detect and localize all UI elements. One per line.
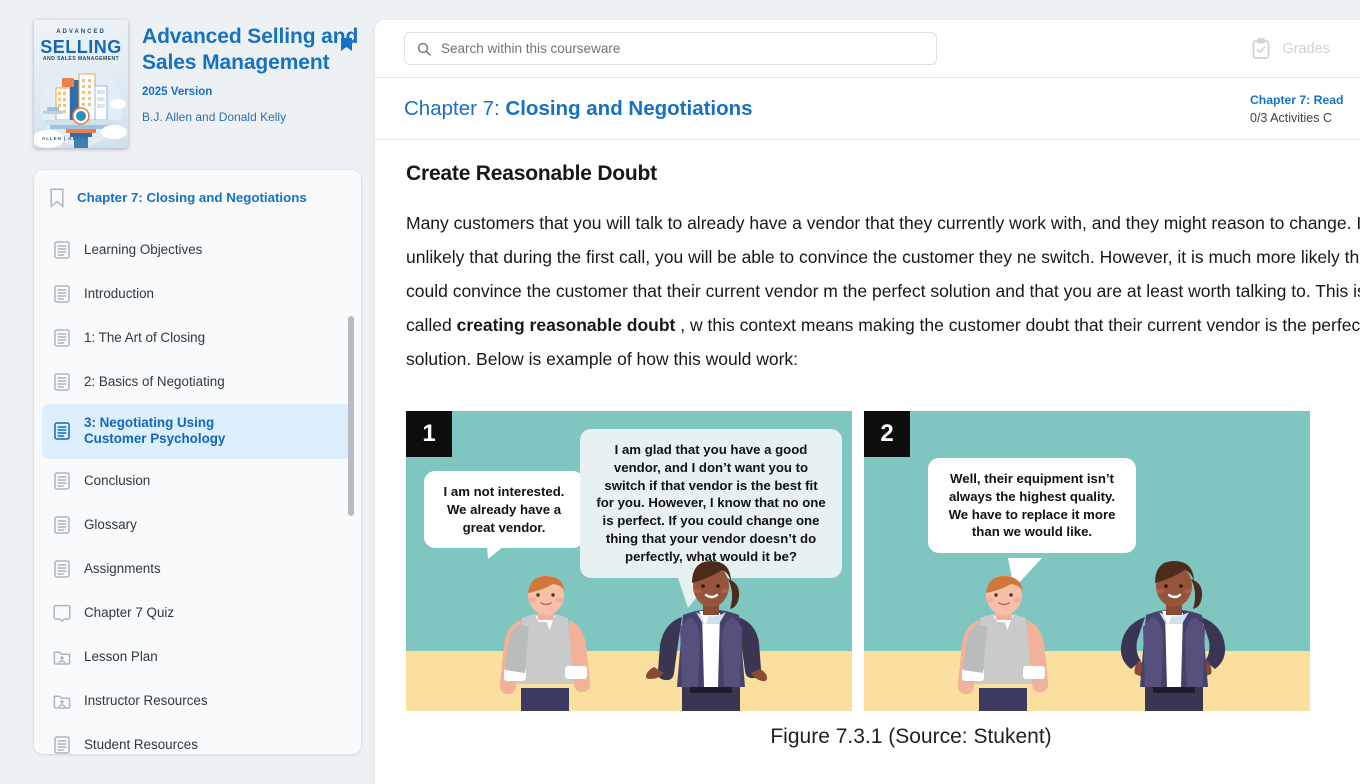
sidebar-item-label: Introduction [84, 286, 154, 302]
document-lines-icon [52, 559, 72, 579]
sidebar-item-label: Lesson Plan [84, 649, 158, 665]
character-salesperson-woman [1109, 561, 1239, 711]
sidebar-item-learning-objectives[interactable]: Learning Objectives [42, 228, 353, 272]
app-root: ADVANCED SELLING AND SALES MANAGEMENT [0, 0, 1360, 784]
document-lines-icon [52, 515, 72, 535]
cover-title-sub: AND SALES MANAGEMENT [34, 56, 128, 62]
document-lines-icon [52, 328, 72, 348]
sidebar: ADVANCED SELLING AND SALES MANAGEMENT [0, 0, 375, 784]
search-placeholder: Search within this courseware [441, 41, 620, 56]
sidebar-scrollbar-thumb[interactable] [348, 316, 354, 516]
book-title: Advanced Selling and Sales Management [142, 24, 361, 75]
grades-label: Grades [1282, 41, 1330, 57]
sidebar-item-label: Student Resources [84, 737, 198, 753]
book-header: ADVANCED SELLING AND SALES MANAGEMENT [0, 0, 375, 148]
sidebar-item-label: Instructor Resources [84, 693, 208, 709]
character-salesperson-woman [646, 561, 776, 711]
figure-panel-1: 1 I am not interested. We already have a… [406, 411, 852, 711]
clipboard-check-icon [1251, 38, 1271, 60]
sidebar-item-instructor-resources[interactable]: Instructor Resources [42, 679, 353, 723]
figure-caption: Figure 7.3.1 (Source: Stukent) [406, 725, 1360, 749]
sidebar-item-student-resources[interactable]: Student Resources [42, 723, 353, 754]
search-input[interactable]: Search within this courseware [404, 32, 937, 65]
sidebar-item-label: Glossary [84, 517, 137, 533]
cover-title-top: ADVANCED [34, 29, 128, 35]
figure-panel-2: 2 Well, their equipment isn’t always the… [864, 411, 1310, 711]
sidebar-item-chapter-7-quiz[interactable]: Chapter 7 Quiz [42, 591, 353, 635]
sidebar-item-3-negotiating-using-customer-psychology[interactable]: 3: Negotiating Using Customer Psychology [42, 404, 353, 459]
chapter-title-name: Closing and Negotiations [505, 97, 752, 120]
body-paragraph: Many customers that you will talk to alr… [406, 206, 1360, 376]
sidebar-item-label: Assignments [84, 561, 161, 577]
nav-header[interactable]: Chapter 7: Closing and Negotiations [34, 170, 361, 214]
chapter-progress-title: Chapter 7: Read [1250, 93, 1360, 107]
book-meta: Advanced Selling and Sales Management 20… [142, 20, 361, 148]
section-heading: Create Reasonable Doubt [406, 162, 1360, 186]
sidebar-item-label: Chapter 7 Quiz [84, 605, 174, 621]
sidebar-item-label: 2: Basics of Negotiating [84, 374, 225, 390]
speech-tail [486, 533, 522, 561]
chapter-title: Chapter 7: Closing and Negotiations [404, 97, 753, 121]
sidebar-item-label: 1: The Art of Closing [84, 330, 205, 346]
paragraph-part: Many customers that you will talk to alr… [406, 213, 1211, 233]
document-lines-icon [52, 735, 72, 754]
cover-title-main: SELLING [34, 37, 128, 58]
document-lines-icon [52, 240, 72, 260]
document-lines-icon [52, 471, 72, 491]
panel-floor [864, 651, 1310, 711]
character-customer-man [949, 576, 1059, 711]
book-authors: B.J. Allen and Donald Kelly [142, 110, 361, 124]
chapter-progress-count: 0/3 Activities C [1250, 111, 1360, 125]
sidebar-item-glossary[interactable]: Glossary [42, 503, 353, 547]
quiz-card-icon [52, 603, 72, 623]
sidebar-item-2-basics-of-negotiating[interactable]: 2: Basics of Negotiating [42, 360, 353, 404]
speech-bubble-salesperson: I am glad that you have a good vendor, a… [580, 429, 842, 578]
sidebar-item-label: Conclusion [84, 473, 150, 489]
bookmark-edit-icon[interactable] [339, 38, 355, 55]
paragraph-part: , w [680, 315, 702, 335]
sidebar-item-label: 3: Negotiating Using Customer Psychology [84, 415, 274, 448]
sidebar-item-conclusion[interactable]: Conclusion [42, 459, 353, 503]
chapter-nav-card: Chapter 7: Closing and Negotiations Lear… [34, 170, 361, 754]
main-panel: Search within this courseware Grades Cha… [375, 20, 1360, 784]
sidebar-item-assignments[interactable]: Assignments [42, 547, 353, 591]
paragraph-part: example of how this would work: [546, 349, 798, 369]
top-toolbar: Search within this courseware Grades [375, 20, 1360, 78]
document-lines-icon [52, 372, 72, 392]
chapter-title-prefix: Chapter 7: [404, 97, 505, 120]
sidebar-item-1-the-art-of-closing[interactable]: 1: The Art of Closing [42, 316, 353, 360]
document-lines-icon [52, 421, 72, 441]
sidebar-item-introduction[interactable]: Introduction [42, 272, 353, 316]
chapter-nav-list: Learning ObjectivesIntroduction1: The Ar… [34, 214, 361, 754]
panel-number: 2 [864, 411, 910, 457]
sidebar-item-label: Learning Objectives [84, 242, 202, 258]
nav-header-label: Chapter 7: Closing and Negotiations [77, 188, 307, 206]
folder-user-icon [52, 647, 72, 667]
document-lines-icon [52, 284, 72, 304]
search-icon [417, 42, 431, 56]
folder-user-icon [52, 691, 72, 711]
panel-number: 1 [406, 411, 452, 457]
figure-panels: 1 I am not interested. We already have a… [406, 411, 1360, 711]
chapter-progress[interactable]: Chapter 7: Read 0/3 Activities C [1250, 93, 1360, 125]
speech-bubble-customer: Well, their equipment isn’t always the h… [928, 458, 1136, 553]
bookmark-outline-icon [48, 188, 66, 208]
book-cover-thumbnail[interactable]: ADVANCED SELLING AND SALES MANAGEMENT [34, 20, 128, 148]
paragraph-part: creating reasonable doubt [457, 315, 676, 335]
grades-button[interactable]: Grades [1251, 38, 1330, 60]
sidebar-item-lesson-plan[interactable]: Lesson Plan [42, 635, 353, 679]
chapter-bar: Chapter 7: Closing and Negotiations Chap… [375, 78, 1360, 140]
lesson-content: Create Reasonable Doubt Many customers t… [375, 140, 1360, 749]
character-customer-man [491, 576, 601, 711]
cover-authors: ALLEN | KELLY [42, 136, 87, 141]
panel-floor [406, 651, 852, 711]
book-version: 2025 Version [142, 86, 361, 98]
